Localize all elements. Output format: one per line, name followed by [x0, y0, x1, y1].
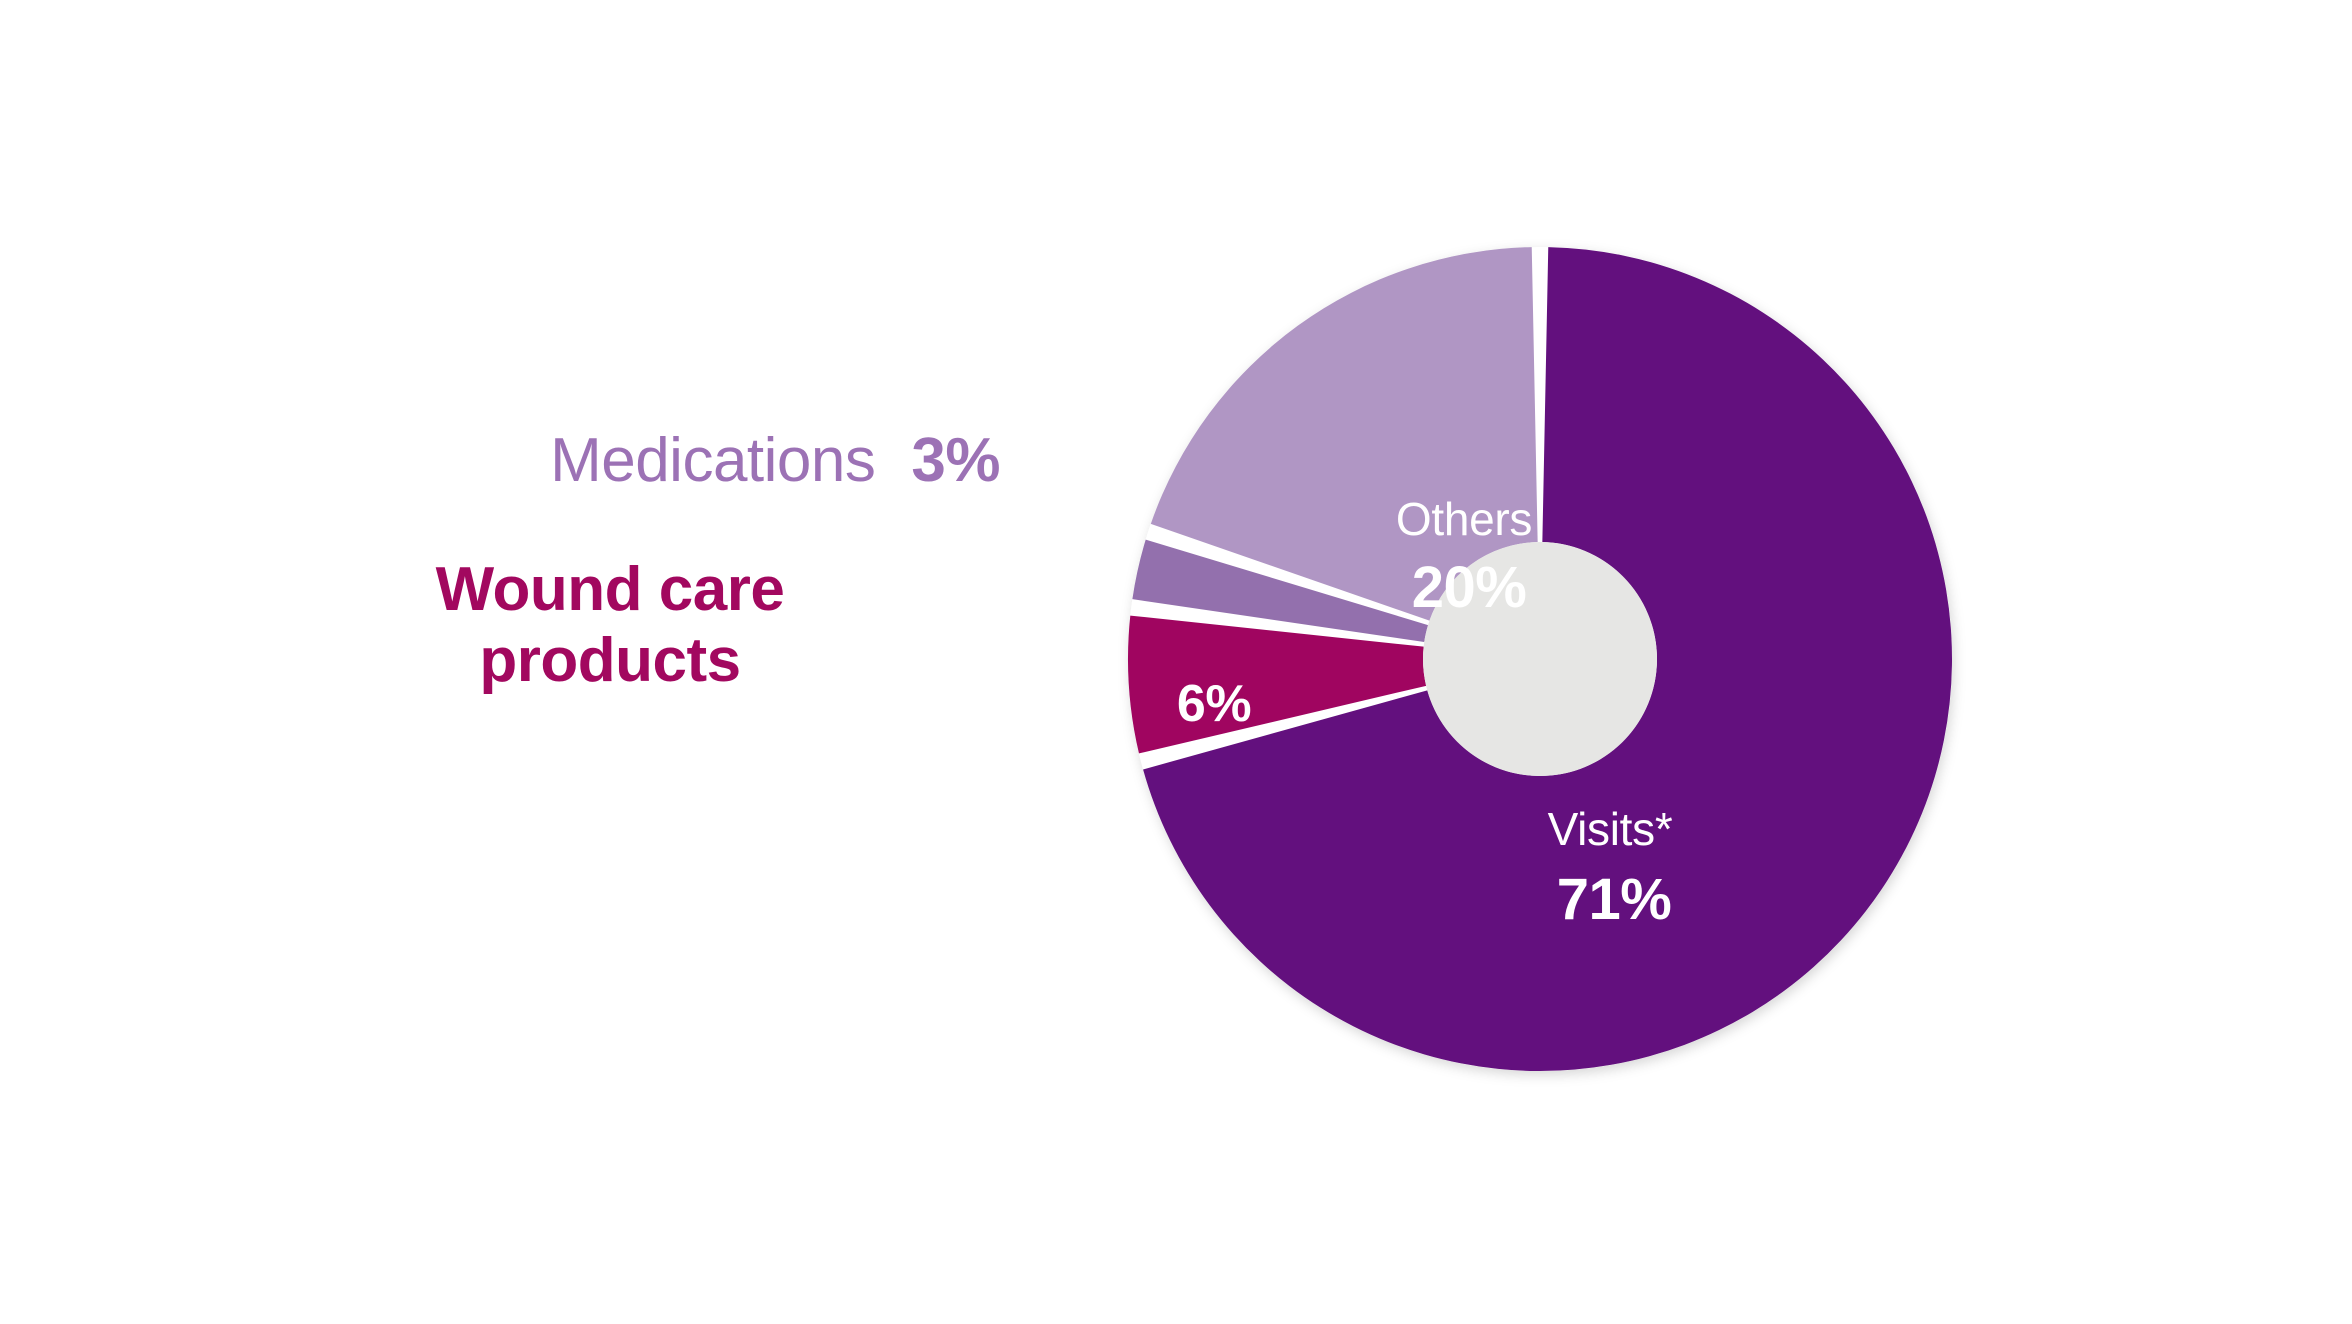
- legend-item-medications: Medications 3%: [0, 430, 1060, 492]
- legend-label-wound-care: Wound care products: [350, 554, 870, 697]
- slice-label-visits-value: 71%: [1557, 867, 1672, 932]
- legend-item-wound-care: Wound care products: [0, 554, 1060, 697]
- external-label-group: Medications 3% Wound care products: [0, 430, 1060, 697]
- legend-value-medications: 3%: [911, 430, 1000, 492]
- slice-label-wound-care-value: 6%: [1177, 675, 1251, 733]
- donut-chart: Others 20% Visits* 71% 6%: [1124, 243, 1956, 1075]
- slice-label-visits-name: Visits*: [1548, 803, 1673, 855]
- donut-chart-svg: Others 20% Visits* 71% 6%: [1124, 243, 1956, 1075]
- legend-label-medications: Medications: [550, 430, 875, 492]
- chart-canvas: Medications 3% Wound care products Other…: [0, 0, 2352, 1324]
- slice-label-others-value: 20%: [1412, 555, 1527, 620]
- slice-label-others-name: Others: [1396, 493, 1532, 545]
